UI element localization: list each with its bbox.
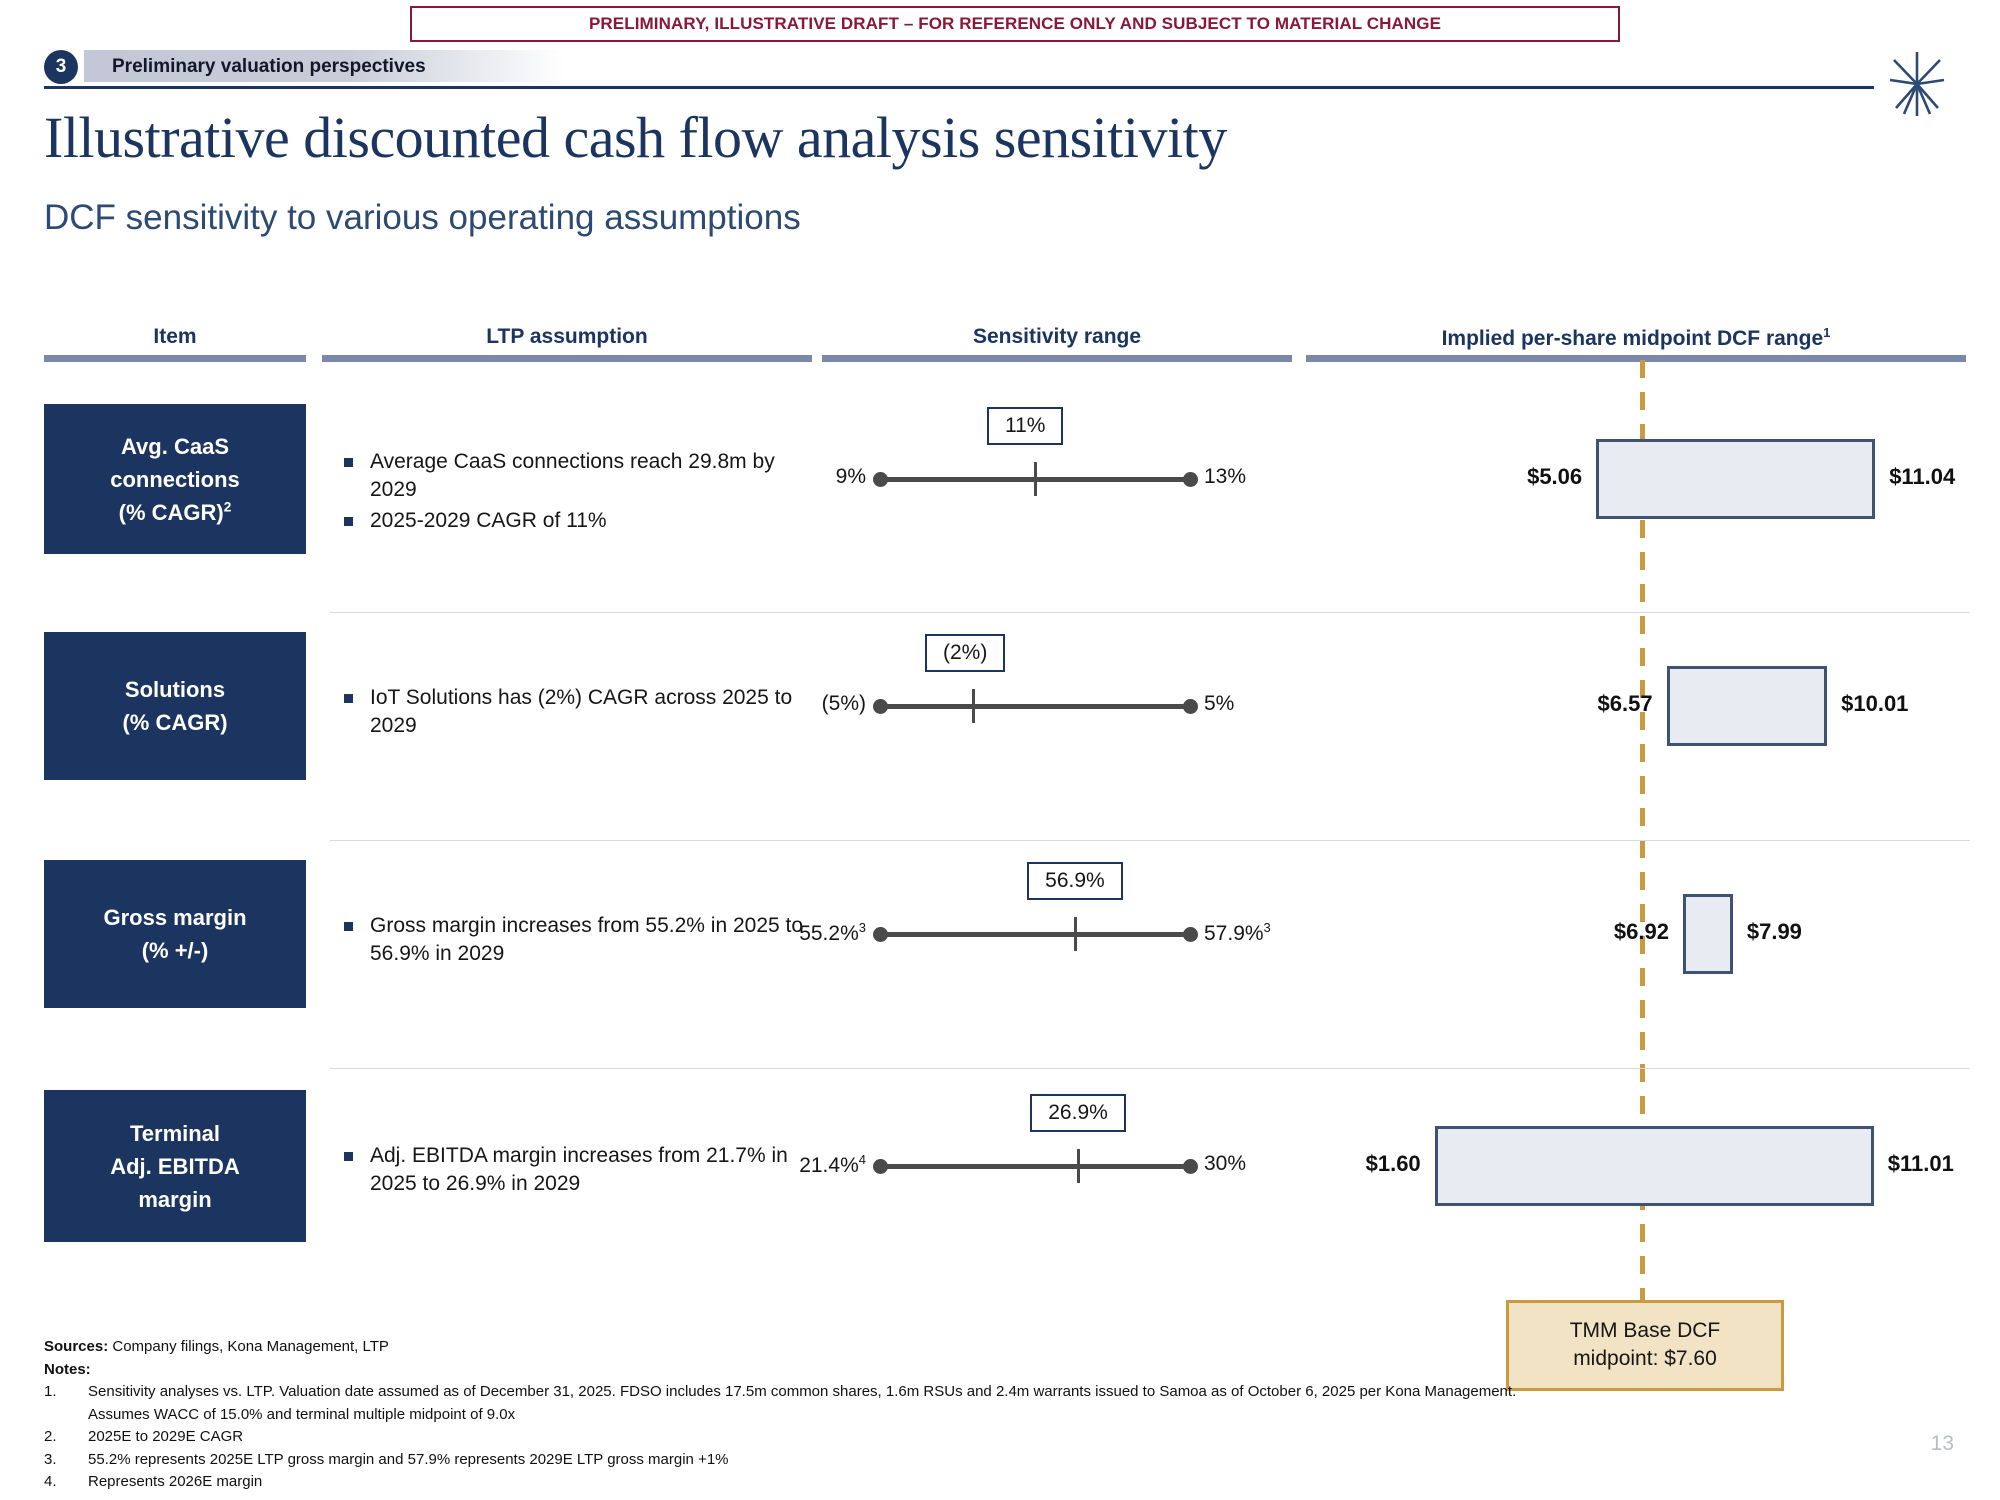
item-label-line: Gross margin (103, 901, 246, 934)
dcf-high-label: $10.01 (1841, 691, 1908, 717)
ltp-bullet: 2025-2029 CAGR of 11% (336, 507, 806, 535)
sensitivity-midpoint-tick (972, 689, 975, 723)
ltp-assumption-bullets: Adj. EBITDA margin increases from 21.7% … (336, 1142, 806, 1201)
ltp-bullet: IoT Solutions has (2%) CAGR across 2025 … (336, 684, 806, 739)
item-label-line: connections (110, 463, 240, 496)
column-rule-item (44, 355, 306, 362)
dcf-high-label: $11.01 (1888, 1151, 1954, 1177)
dcf-low-label: $5.06 (1527, 464, 1582, 490)
ltp-bullet: Adj. EBITDA margin increases from 21.7% … (336, 1142, 806, 1197)
sensitivity-low-label: 55.2%3 (799, 920, 866, 946)
sensitivity-high-dot (1183, 927, 1198, 942)
footnote-number: 4. (44, 1471, 88, 1494)
footnote-item: 4.Represents 2026E margin (44, 1471, 1544, 1494)
section-number-badge: 3 (44, 50, 78, 84)
sensitivity-high-label: 13% (1204, 465, 1246, 489)
page-number: 13 (1931, 1432, 1954, 1456)
disclaimer-banner: PRELIMINARY, ILLUSTRATIVE DRAFT – FOR RE… (410, 6, 1620, 42)
item-label-box: Solutions(% CAGR) (44, 632, 306, 780)
column-header-sensitivity: Sensitivity range (822, 325, 1292, 349)
sensitivity-low-label: 21.4%4 (799, 1152, 866, 1178)
sensitivity-high-dot (1183, 1159, 1198, 1174)
row-divider (330, 840, 1970, 841)
footnote-item: 3.55.2% represents 2025E LTP gross margi… (44, 1449, 1544, 1472)
dcf-high-label: $11.04 (1889, 464, 1955, 490)
item-label-line: Solutions (125, 673, 225, 706)
sources-line: Sources: Company filings, Kona Managemen… (44, 1336, 1544, 1359)
item-label-box: Gross margin(% +/-) (44, 860, 306, 1008)
column-header-item: Item (44, 325, 306, 349)
footnote-number: 1. (44, 1381, 88, 1426)
item-label-line: Adj. EBITDA (110, 1150, 240, 1183)
ltp-assumption-bullets: Gross margin increases from 55.2% in 202… (336, 912, 806, 971)
ltp-assumption-bullets: IoT Solutions has (2%) CAGR across 2025 … (336, 684, 806, 743)
sensitivity-midpoint-box: (2%) (925, 634, 1005, 672)
dcf-low-label: $6.92 (1614, 919, 1669, 945)
row-divider (330, 612, 1970, 613)
implied-dcf-range-chart: $5.06$11.04 (1300, 404, 2000, 554)
sensitivity-high-dot (1183, 699, 1198, 714)
sensitivity-range-chart: 9%13%11% (820, 404, 1290, 554)
tmm-callout-line1: TMM Base DCF (1519, 1317, 1771, 1345)
sensitivity-axis-line (880, 932, 1190, 937)
footnote-text: Represents 2026E margin (88, 1471, 262, 1494)
dcf-range-box (1683, 894, 1733, 974)
footnote-number: 3. (44, 1449, 88, 1472)
column-header-implied: Implied per-share midpoint DCF range1 (1306, 325, 1966, 351)
sensitivity-range-chart: 21.4%430%26.9% (820, 1090, 1290, 1242)
sensitivity-low-label: 9% (836, 465, 866, 489)
column-header-ltp: LTP assumption (322, 325, 812, 349)
footnote-text: Sensitivity analyses vs. LTP. Valuation … (88, 1381, 1544, 1426)
item-label-line: Terminal (130, 1117, 220, 1150)
column-rule-implied (1306, 355, 1966, 362)
item-label-line: (% CAGR)2 (119, 496, 232, 529)
footnote-item: 2.2025E to 2029E CAGR (44, 1426, 1544, 1449)
sensitivity-range-chart: (5%)5%(2%) (820, 632, 1290, 780)
section-title: Preliminary valuation perspectives (112, 56, 426, 78)
sensitivity-row: Solutions(% CAGR)IoT Solutions has (2%) … (0, 632, 2000, 780)
dcf-high-label: $7.99 (1747, 919, 1802, 945)
dcf-low-label: $1.60 (1366, 1151, 1421, 1177)
dcf-range-box (1596, 439, 1875, 519)
sensitivity-axis-line (880, 704, 1190, 709)
footnotes: Sources: Company filings, Kona Managemen… (44, 1336, 1544, 1494)
sensitivity-high-label: 30% (1204, 1152, 1246, 1176)
sensitivity-midpoint-box: 26.9% (1030, 1094, 1126, 1132)
item-label-line: Avg. CaaS (121, 430, 229, 463)
implied-dcf-range-chart: $6.57$10.01 (1300, 632, 2000, 780)
ltp-bullet: Gross margin increases from 55.2% in 202… (336, 912, 806, 967)
item-label-box: TerminalAdj. EBITDAmargin (44, 1090, 306, 1242)
sensitivity-midpoint-tick (1034, 462, 1037, 496)
company-logo-icon (1882, 48, 1952, 120)
sensitivity-midpoint-box: 56.9% (1027, 862, 1123, 900)
dcf-range-box (1435, 1126, 1874, 1206)
tmm-midpoint-callout: TMM Base DCF midpoint: $7.60 (1506, 1300, 1784, 1391)
dcf-low-label: $6.57 (1598, 691, 1653, 717)
item-label-line: (% CAGR) (122, 706, 227, 739)
dcf-range-box (1667, 666, 1828, 746)
sensitivity-low-label: (5%) (822, 692, 866, 716)
disclaimer-text: PRELIMINARY, ILLUSTRATIVE DRAFT – FOR RE… (589, 14, 1441, 34)
row-divider (330, 1068, 1970, 1069)
item-label-line: (% +/-) (142, 934, 209, 967)
sensitivity-high-label: 5% (1204, 692, 1234, 716)
sensitivity-high-label: 57.9%3 (1204, 920, 1271, 946)
tmm-callout-line2: midpoint: $7.60 (1519, 1345, 1771, 1373)
footnote-text: 2025E to 2029E CAGR (88, 1426, 243, 1449)
ltp-bullet: Average CaaS connections reach 29.8m by … (336, 448, 806, 503)
sensitivity-axis-line (880, 1164, 1190, 1169)
sensitivity-row: Gross margin(% +/-)Gross margin increase… (0, 860, 2000, 1008)
implied-dcf-range-chart: $1.60$11.01 (1300, 1090, 2000, 1242)
footnote-number: 2. (44, 1426, 88, 1449)
implied-dcf-range-chart: $6.92$7.99 (1300, 860, 2000, 1008)
ltp-assumption-bullets: Average CaaS connections reach 29.8m by … (336, 448, 806, 539)
footnote-text: 55.2% represents 2025E LTP gross margin … (88, 1449, 729, 1472)
column-rule-sensitivity (822, 355, 1292, 362)
sensitivity-high-dot (1183, 472, 1198, 487)
column-rule-ltp (322, 355, 812, 362)
sensitivity-row: TerminalAdj. EBITDAmarginAdj. EBITDA mar… (0, 1090, 2000, 1242)
item-label-box: Avg. CaaSconnections(% CAGR)2 (44, 404, 306, 554)
header-rule (44, 86, 1874, 89)
sensitivity-range-chart: 55.2%357.9%356.9% (820, 860, 1290, 1008)
sensitivity-midpoint-tick (1077, 1149, 1080, 1183)
sensitivity-row: Avg. CaaSconnections(% CAGR)2Average Caa… (0, 404, 2000, 554)
sensitivity-midpoint-tick (1074, 917, 1077, 951)
page-title: Illustrative discounted cash flow analys… (44, 104, 1227, 171)
item-label-line: margin (138, 1183, 211, 1216)
sensitivity-midpoint-box: 11% (987, 407, 1063, 445)
footnote-item: 1.Sensitivity analyses vs. LTP. Valuatio… (44, 1381, 1544, 1426)
page-subtitle: DCF sensitivity to various operating ass… (44, 198, 801, 238)
notes-label: Notes: (44, 1359, 1544, 1382)
